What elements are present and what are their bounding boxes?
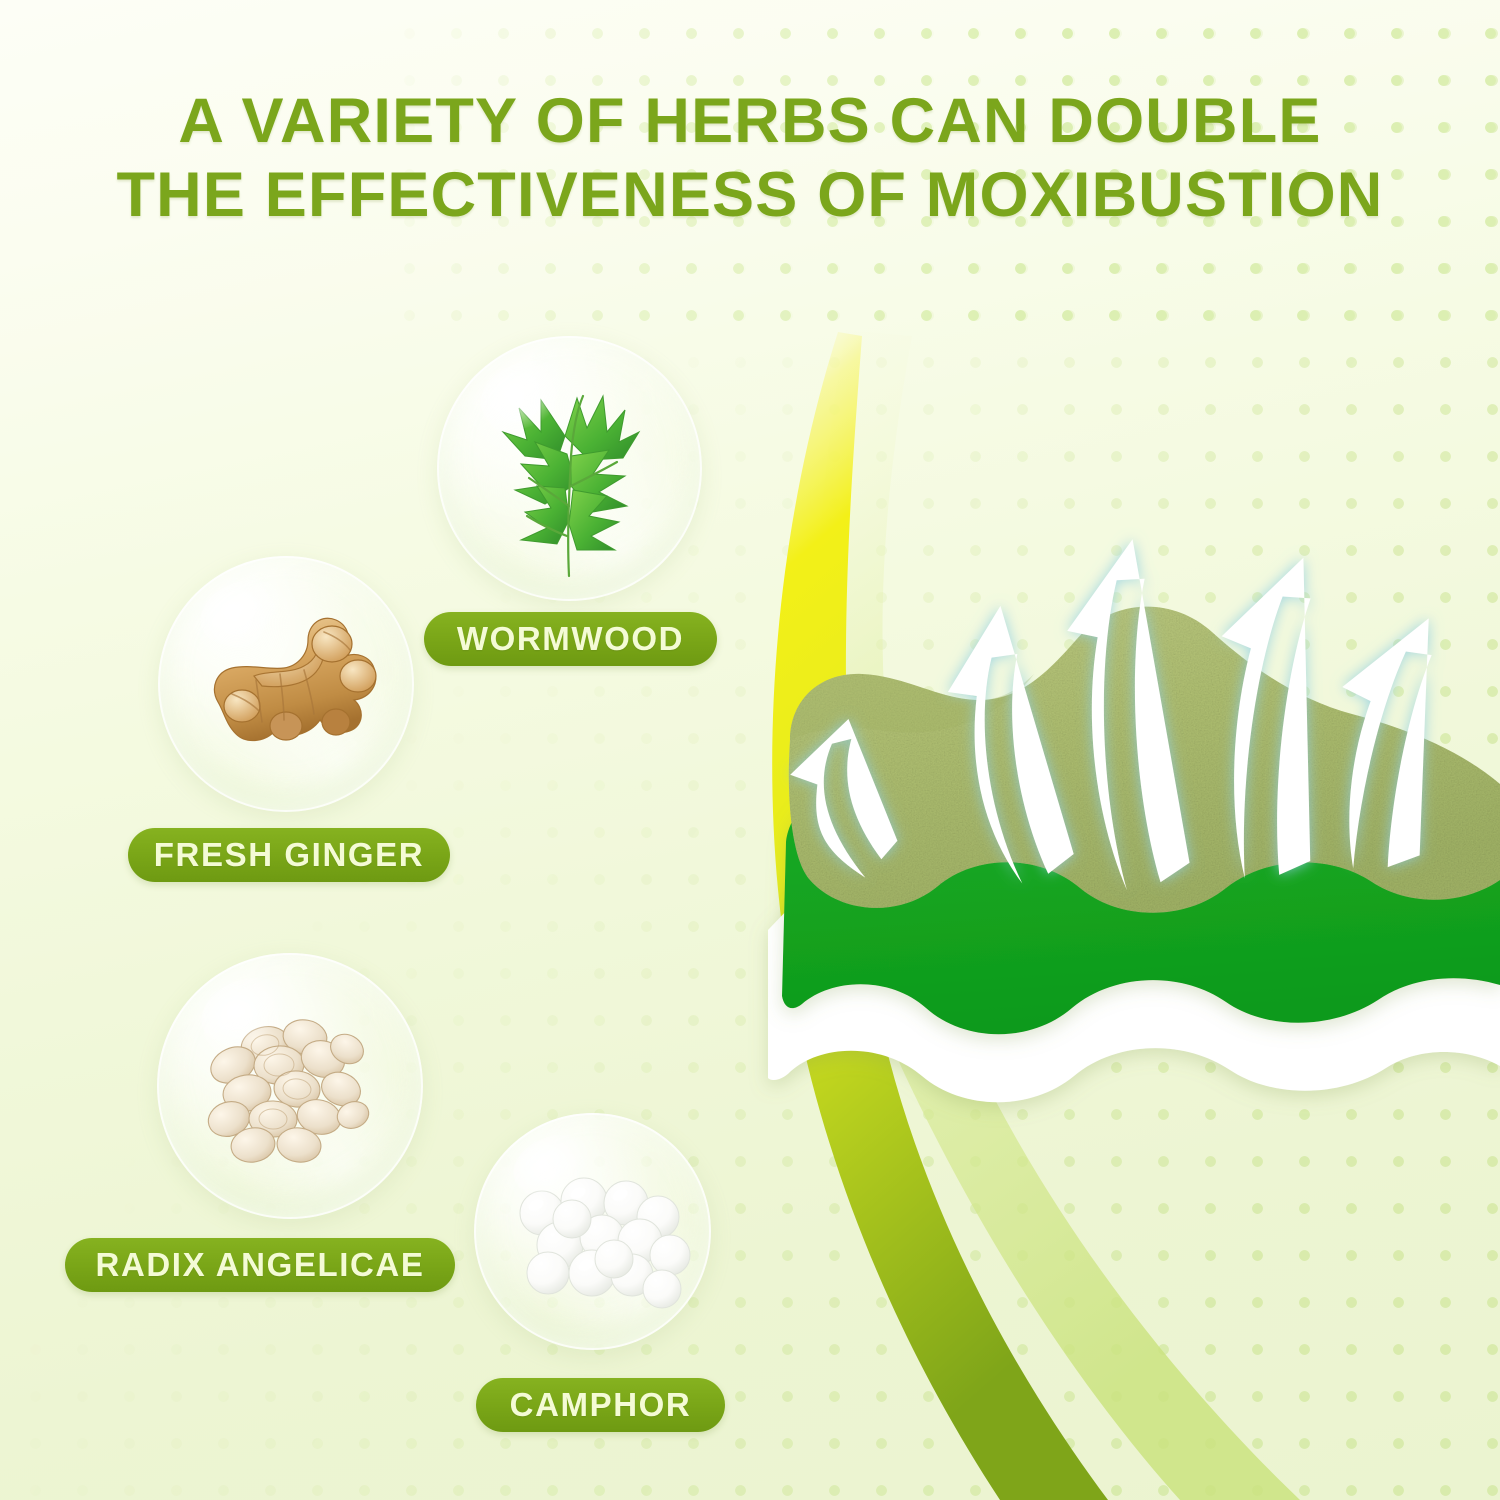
infographic-canvas: A VARIETY OF HERBS CAN DOUBLE THE EFFECT… bbox=[0, 0, 1500, 1500]
bubble-rim bbox=[437, 336, 702, 601]
ingredient-label-radix-angelicae: RADIX ANGELICAE bbox=[65, 1238, 455, 1292]
bubble-rim bbox=[157, 953, 423, 1219]
ingredient-bubble-radix-angelicae bbox=[157, 953, 423, 1219]
ingredient-label-camphor: CAMPHOR bbox=[476, 1378, 725, 1432]
ingredient-bubble-camphor bbox=[474, 1113, 711, 1350]
bubble-rim bbox=[158, 556, 414, 812]
bubble-rim bbox=[474, 1113, 711, 1350]
ingredient-label-wormwood: WORMWOOD bbox=[424, 612, 717, 666]
ingredient-label-fresh-ginger: FRESH GINGER bbox=[128, 828, 450, 882]
ingredient-bubble-fresh-ginger bbox=[158, 556, 414, 812]
ingredient-bubble-wormwood bbox=[437, 336, 702, 601]
